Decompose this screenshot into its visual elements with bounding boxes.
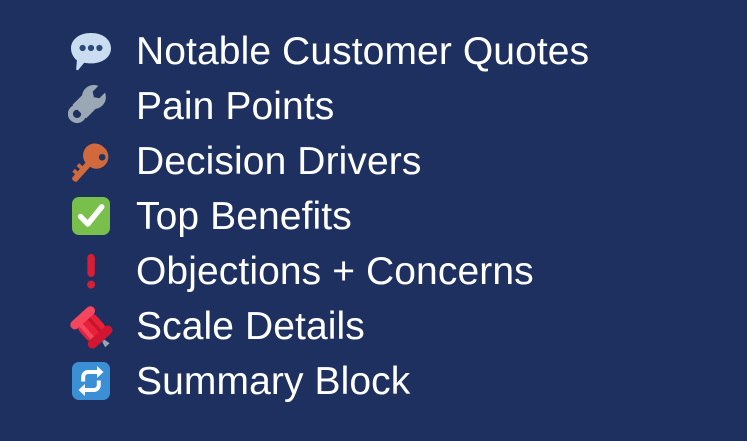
agenda-slide: Notable Customer Quotes Pain Points: [0, 0, 747, 441]
list-item-summary-block[interactable]: Summary Block: [0, 354, 747, 409]
list-item-top-benefits[interactable]: Top Benefits: [0, 189, 747, 244]
list-item-label: Decision Drivers: [136, 139, 422, 185]
list-item-scale-details[interactable]: Scale Details: [0, 299, 747, 354]
list-item-label: Top Benefits: [136, 194, 352, 240]
exclamation-mark-icon: [66, 249, 116, 295]
list-item-label: Notable Customer Quotes: [136, 29, 589, 75]
list-item-label: Scale Details: [136, 304, 365, 350]
list-item-label: Pain Points: [136, 84, 334, 130]
key-icon: [66, 139, 116, 185]
list-item-objections-concerns[interactable]: Objections + Concerns: [0, 244, 747, 299]
repeat-button-icon: [66, 359, 116, 405]
wrench-icon: [66, 84, 116, 130]
list-item-decision-drivers[interactable]: Decision Drivers: [0, 134, 747, 189]
agenda-list: Notable Customer Quotes Pain Points: [0, 24, 747, 409]
pushpin-icon: [66, 304, 116, 350]
speech-balloon-icon: [66, 29, 116, 75]
list-item-pain-points[interactable]: Pain Points: [0, 79, 747, 134]
list-item-notable-customer-quotes[interactable]: Notable Customer Quotes: [0, 24, 747, 79]
list-item-label: Summary Block: [136, 359, 410, 405]
list-item-label: Objections + Concerns: [136, 249, 534, 295]
check-mark-button-icon: [66, 194, 116, 240]
